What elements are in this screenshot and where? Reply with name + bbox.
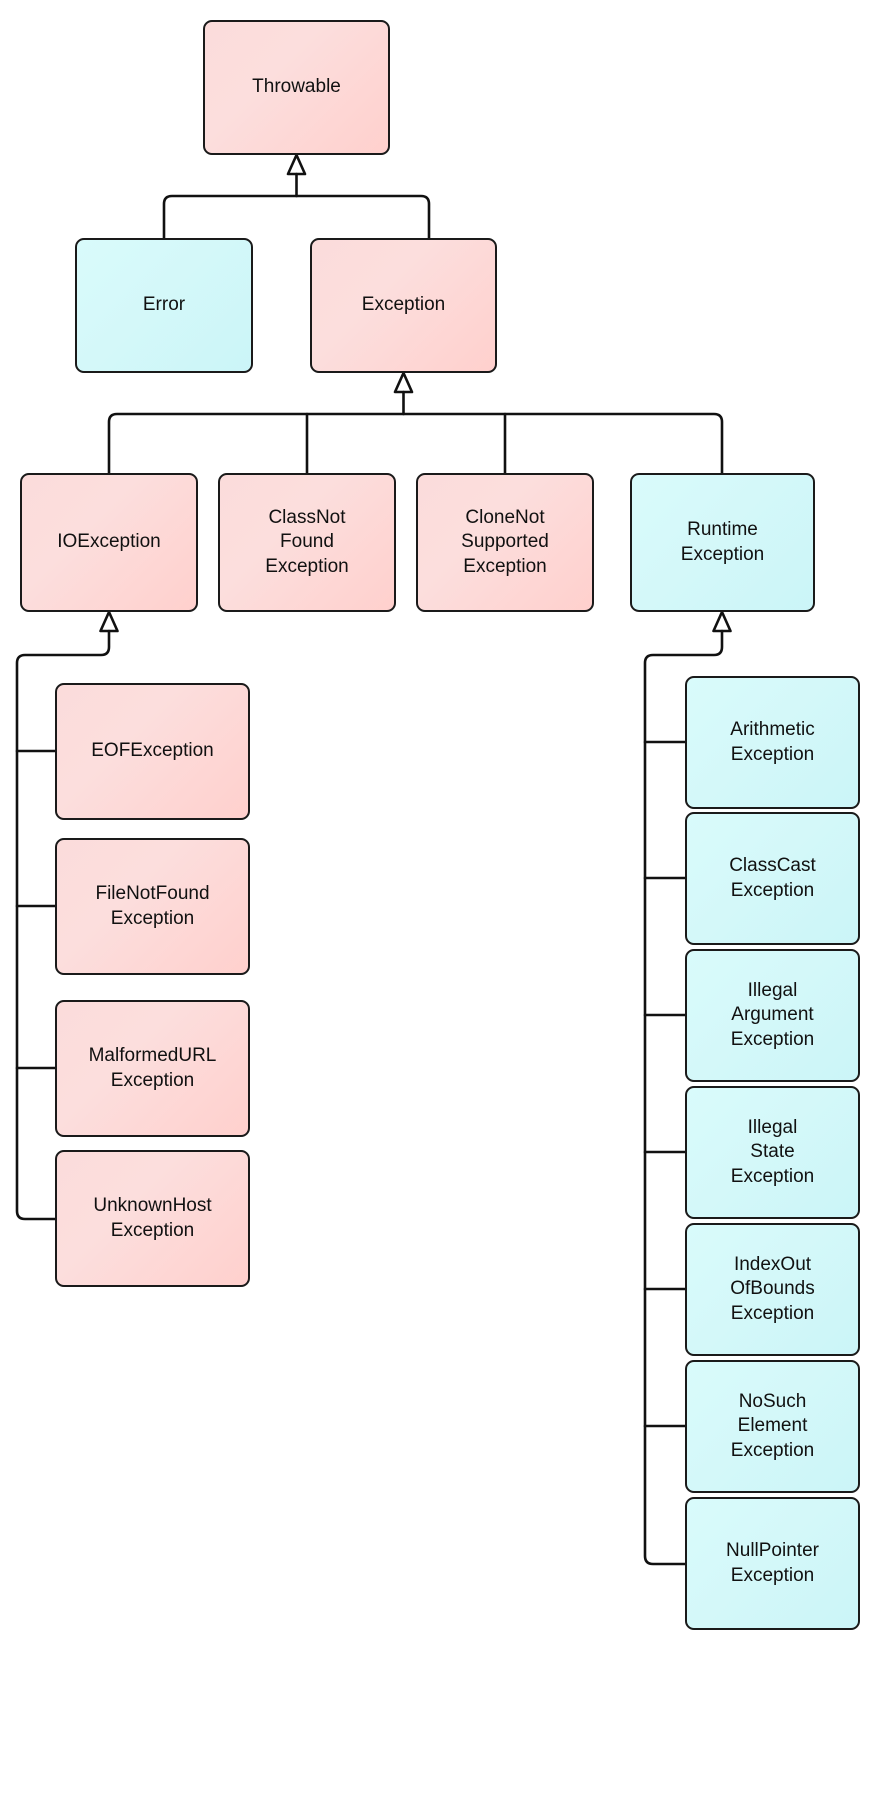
generalization-arrow-runtimeexception (714, 612, 731, 631)
class-node-clonenotsupportedexception[interactable]: CloneNot Supported Exception (416, 473, 594, 612)
class-label-classcastexception: ClassCast Exception (723, 854, 822, 903)
class-label-indexoutofboundsexception: IndexOut OfBounds Exception (724, 1253, 821, 1326)
class-label-throwable: Throwable (246, 75, 347, 99)
class-label-arithmeticexception: Arithmetic Exception (724, 718, 820, 767)
class-label-illegalargumentexception: Illegal Argument Exception (725, 979, 820, 1052)
class-label-ioexception: IOException (51, 530, 167, 554)
class-label-exception: Exception (356, 293, 451, 317)
class-label-clonenotsupportedexception: CloneNot Supported Exception (455, 506, 555, 579)
class-node-runtimeexception[interactable]: Runtime Exception (630, 473, 815, 612)
class-node-exception[interactable]: Exception (310, 238, 497, 373)
class-node-classcastexception[interactable]: ClassCast Exception (685, 812, 860, 945)
class-label-eofexception: EOFException (85, 739, 220, 763)
class-node-nullpointerexception[interactable]: NullPointer Exception (685, 1497, 860, 1630)
generalization-arrow-throwable (288, 155, 305, 174)
class-node-ioexception[interactable]: IOException (20, 473, 198, 612)
generalization-arrow-ioexception (101, 612, 118, 631)
class-node-nosuchelementexception[interactable]: NoSuch Element Exception (685, 1360, 860, 1493)
class-node-filenotfoundexception[interactable]: FileNotFound Exception (55, 838, 250, 975)
class-node-illegalargumentexception[interactable]: Illegal Argument Exception (685, 949, 860, 1082)
exception-hierarchy-diagram: Throwable Error Exception IOException Cl… (0, 0, 883, 1814)
class-node-throwable[interactable]: Throwable (203, 20, 390, 155)
class-label-nullpointerexception: NullPointer Exception (720, 1539, 825, 1588)
class-label-error: Error (137, 293, 191, 317)
class-node-illegalstateexception[interactable]: Illegal State Exception (685, 1086, 860, 1219)
generalization-arrow-exception (395, 373, 412, 392)
class-label-unknownhostexception: UnknownHost Exception (87, 1194, 217, 1243)
class-node-eofexception[interactable]: EOFException (55, 683, 250, 820)
class-node-malformedurlexception[interactable]: MalformedURL Exception (55, 1000, 250, 1137)
class-node-arithmeticexception[interactable]: Arithmetic Exception (685, 676, 860, 809)
class-node-classnotfoundexception[interactable]: ClassNot Found Exception (218, 473, 396, 612)
class-label-classnotfoundexception: ClassNot Found Exception (259, 506, 354, 579)
class-label-nosuchelementexception: NoSuch Element Exception (725, 1390, 820, 1463)
class-node-unknownhostexception[interactable]: UnknownHost Exception (55, 1150, 250, 1287)
class-label-runtimeexception: Runtime Exception (675, 518, 770, 567)
class-label-filenotfoundexception: FileNotFound Exception (89, 882, 215, 931)
class-label-malformedurlexception: MalformedURL Exception (83, 1044, 223, 1093)
class-node-error[interactable]: Error (75, 238, 253, 373)
class-node-indexoutofboundsexception[interactable]: IndexOut OfBounds Exception (685, 1223, 860, 1356)
class-label-illegalstateexception: Illegal State Exception (725, 1116, 820, 1189)
